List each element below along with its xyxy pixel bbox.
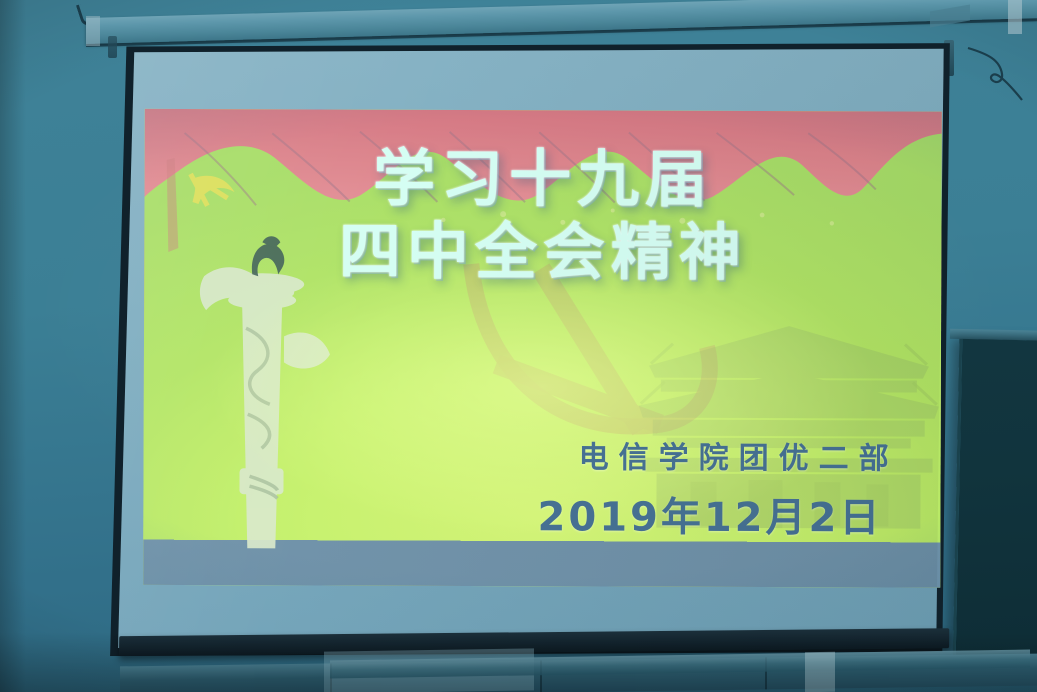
projector-screen[interactable]: 学习十九届 四中全会精神 电信学院团优二部 2019年12月2日 bbox=[75, 30, 957, 664]
tiananmen-gate-silhouette-icon bbox=[638, 320, 939, 536]
wall-left-shadow bbox=[0, 0, 26, 692]
slide-title-line-1: 学习十九届 bbox=[373, 142, 713, 216]
projection-haze bbox=[143, 109, 942, 588]
hanging-cord-icon[interactable] bbox=[966, 44, 1026, 102]
blackboard bbox=[953, 339, 1037, 661]
projected-slide: 学习十九届 四中全会精神 电信学院团优二部 2019年12月2日 bbox=[143, 109, 942, 588]
slide-organization: 电信学院团优二部 bbox=[579, 432, 899, 477]
red-curtain-valance-icon bbox=[144, 109, 941, 230]
hammer-and-sickle-emblem-icon bbox=[430, 234, 731, 485]
slide-title-line-2: 四中全会精神 bbox=[144, 218, 941, 288]
wall-bottom-shadow bbox=[0, 632, 1037, 692]
slide-title: 学习十九届 四中全会精神 bbox=[144, 145, 941, 288]
party-flag-hammer-sickle-icon bbox=[160, 152, 270, 272]
slide-date: 2019年12月2日 bbox=[537, 484, 882, 543]
classroom-scene: 学习十九届 四中全会精神 电信学院团优二部 2019年12月2日 bbox=[0, 0, 1037, 692]
roller-end-cap-right bbox=[1008, 0, 1022, 34]
huabiao-column-icon bbox=[191, 218, 342, 556]
